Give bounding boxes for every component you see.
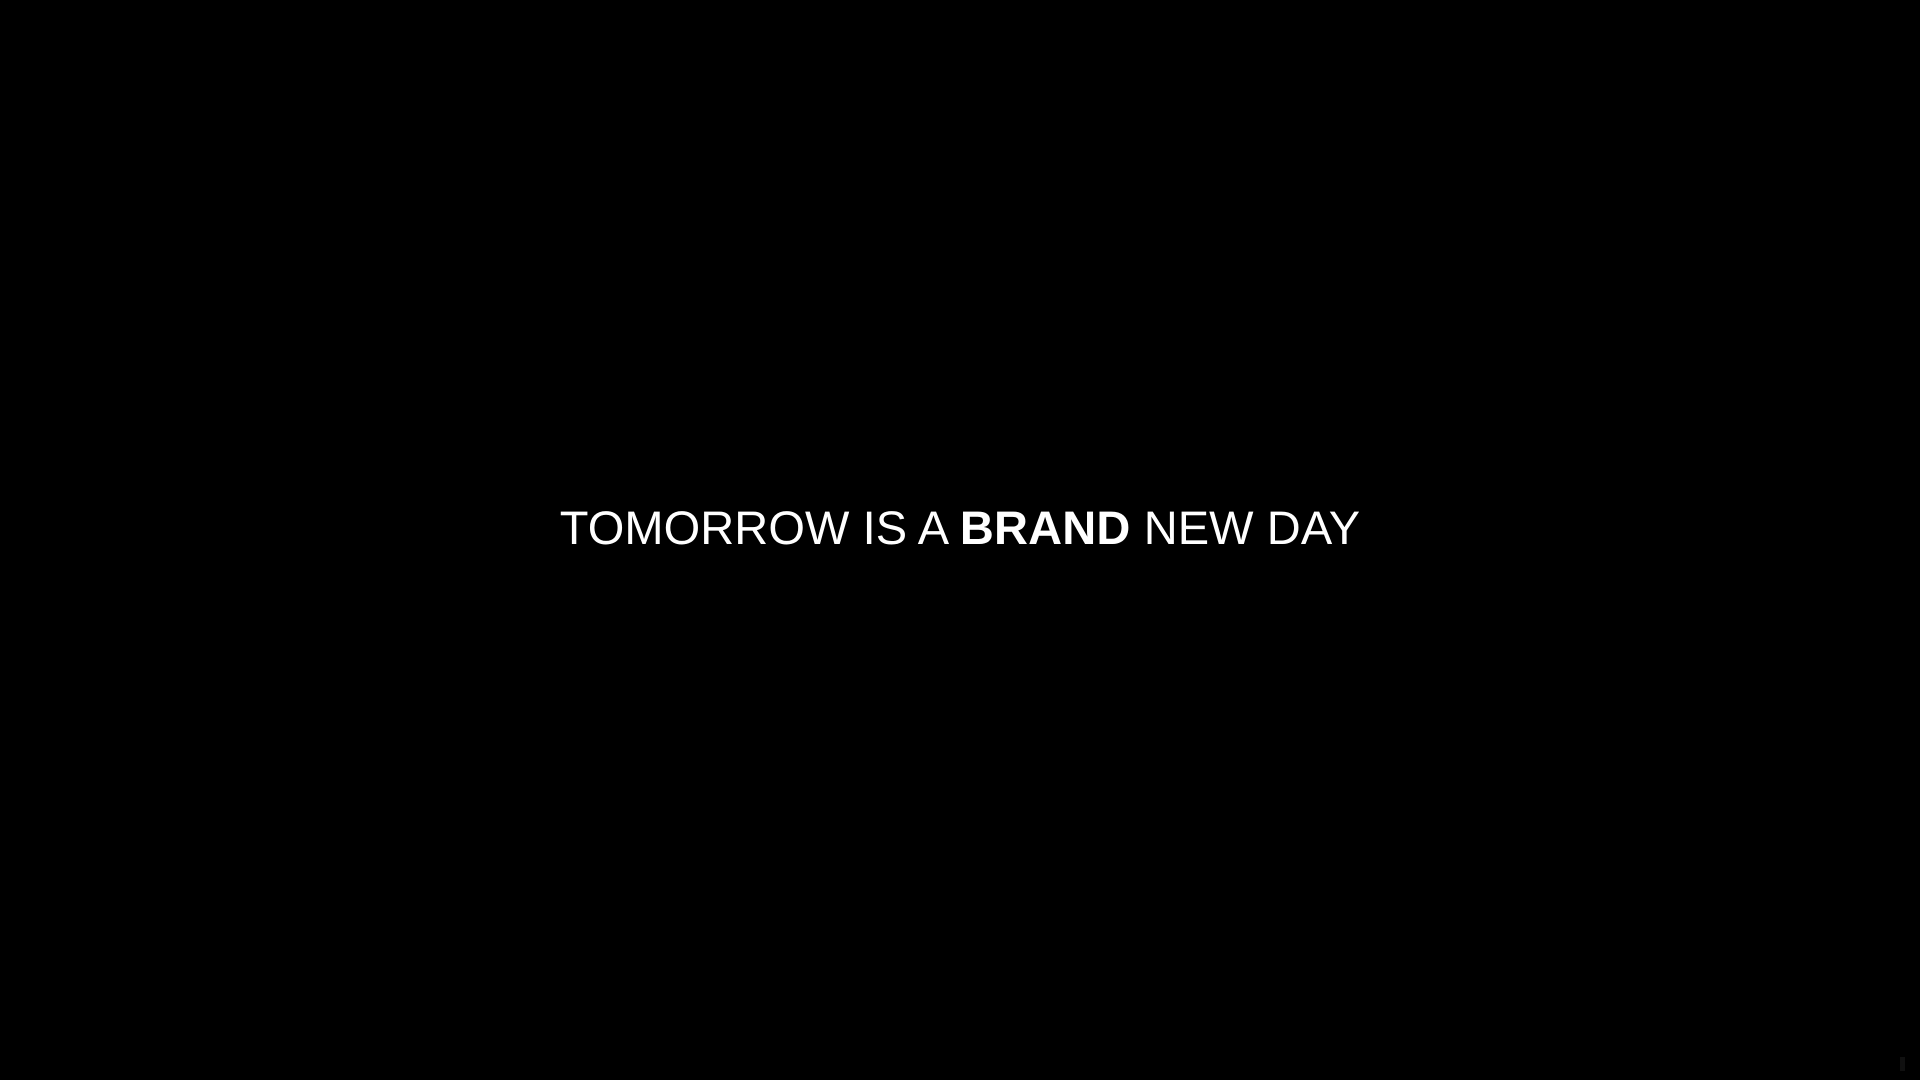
headline-segment-1: TOMORROW IS A	[560, 501, 960, 554]
headline-segment-emphasis: BRAND	[960, 501, 1131, 554]
headline-container: TOMORROW IS A BRAND NEW DAY	[0, 0, 1920, 1056]
page-title: TOMORROW IS A BRAND NEW DAY	[560, 503, 1361, 553]
watermark-glyph-icon	[1900, 1057, 1905, 1071]
headline-segment-3: NEW DAY	[1131, 501, 1361, 554]
wallpaper-canvas: TOMORROW IS A BRAND NEW DAY	[0, 0, 1920, 1080]
watermark	[1900, 1056, 1914, 1072]
